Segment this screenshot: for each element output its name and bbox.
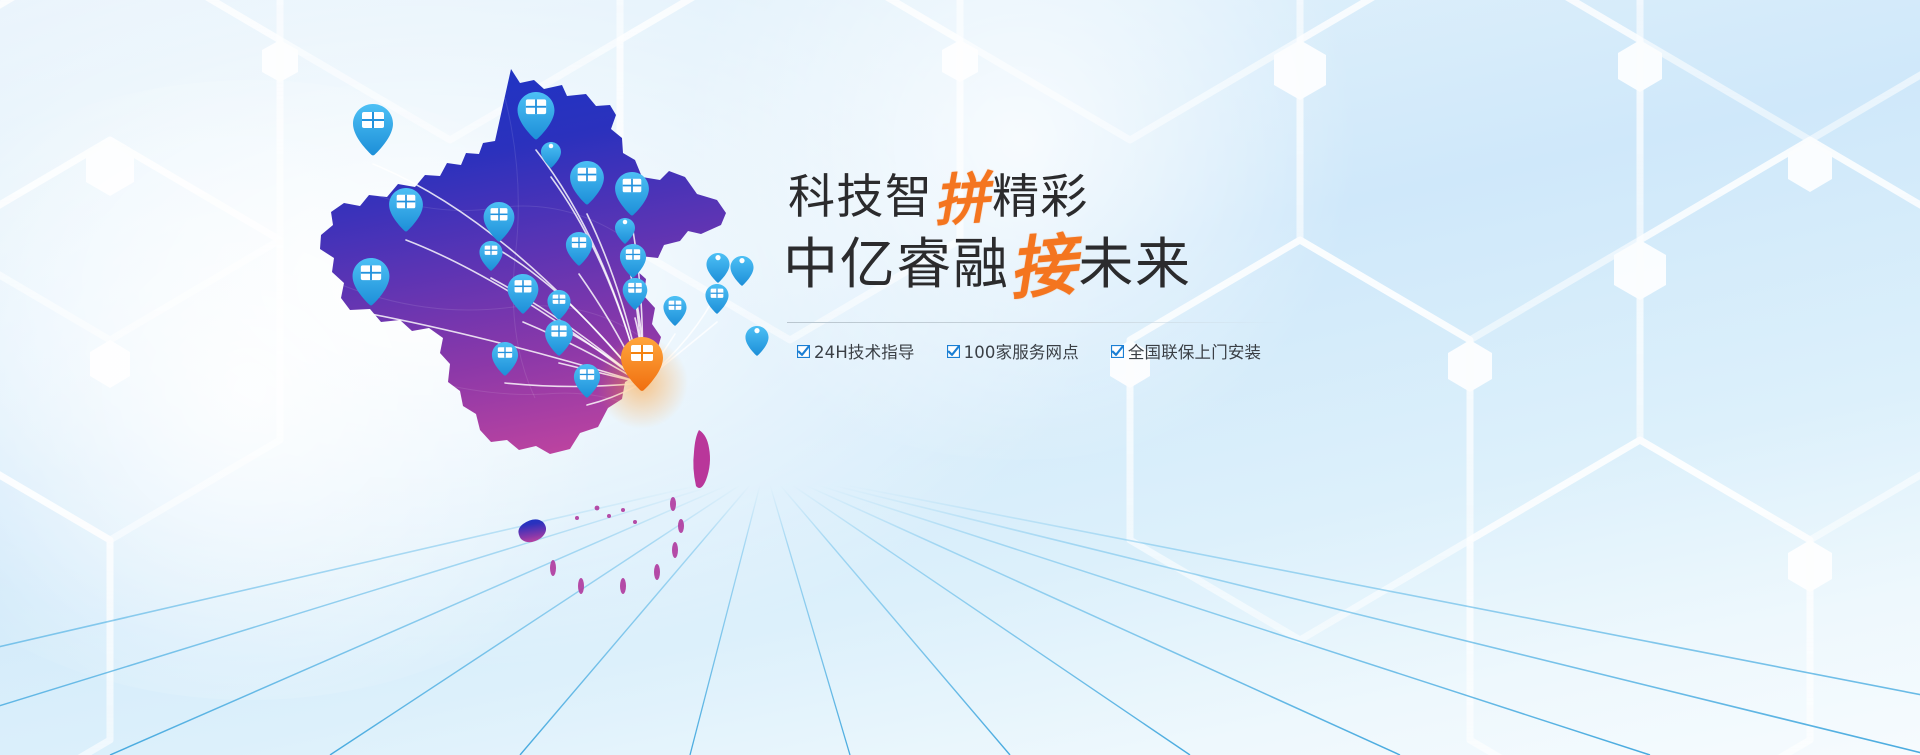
feature-item: 全国联保上门安装 [1111, 339, 1261, 363]
banner-root: 科技智拼精彩 中亿睿融接未来 24H技术指导100家服务网点全国联保上门安装 [0, 0, 1920, 755]
map-pin-marker[interactable] [353, 104, 393, 155]
display-screen-icon [498, 347, 512, 357]
headline-1-pre: 科技智 [788, 170, 933, 225]
headline-line-2: 中亿睿融接未来 [783, 229, 1343, 302]
checkbox-checked-icon[interactable] [947, 345, 960, 358]
pin-dot [754, 328, 759, 333]
feature-item: 24H技术指导 [797, 339, 915, 363]
display-screen-icon [578, 168, 597, 182]
pin-dot [549, 144, 554, 149]
map-pin-marker[interactable] [745, 326, 768, 356]
pin-body [353, 104, 393, 155]
pin-dot [739, 258, 744, 263]
feature-label: 24H技术指导 [814, 339, 915, 363]
headline-2-pre: 中亿睿融 [783, 232, 1010, 296]
checkbox-checked-icon[interactable] [1111, 345, 1124, 358]
display-screen-icon [626, 249, 640, 259]
display-screen-icon [669, 301, 682, 310]
display-screen-icon [628, 283, 642, 293]
display-screen-icon [491, 208, 508, 220]
display-screen-icon [551, 326, 566, 337]
pin-body [663, 296, 686, 326]
display-screen-icon [580, 369, 594, 379]
display-screen-icon [485, 246, 498, 255]
banner-copy: 科技智拼精彩 中亿睿融接未来 24H技术指导100家服务网点全国联保上门安装 [783, 168, 1343, 363]
display-screen-icon [631, 345, 653, 361]
map-pin-marker[interactable] [730, 256, 753, 286]
checkbox-checked-icon[interactable] [797, 345, 810, 358]
feature-item: 100家服务网点 [947, 339, 1079, 363]
map-pin-marker[interactable] [706, 253, 729, 283]
headline-divider [787, 322, 1284, 323]
display-screen-icon [397, 195, 416, 209]
headline-1-accent: 拼 [931, 164, 993, 239]
display-screen-icon [623, 179, 642, 193]
china-map [205, 38, 825, 608]
headline-1-post: 精彩 [992, 170, 1089, 225]
display-screen-icon [361, 265, 381, 280]
china-map-svg [205, 38, 825, 608]
display-screen-icon [515, 280, 532, 292]
display-screen-icon [553, 295, 566, 304]
headline-2-post: 未来 [1078, 232, 1191, 296]
feature-label: 全国联保上门安装 [1128, 339, 1261, 363]
feature-label: 100家服务网点 [964, 339, 1079, 363]
display-screen-icon [362, 112, 384, 128]
map-pin-marker[interactable] [663, 296, 686, 326]
pin-body [705, 284, 728, 314]
display-screen-icon [572, 237, 586, 247]
pin-dot [715, 255, 720, 260]
pin-dot [623, 220, 628, 225]
map-pin-marker[interactable] [705, 284, 728, 314]
display-screen-icon [711, 289, 724, 298]
display-screen-icon [526, 99, 546, 114]
headline-2-accent: 接 [1005, 222, 1081, 313]
feature-list: 24H技术指导100家服务网点全国联保上门安装 [797, 339, 1343, 363]
